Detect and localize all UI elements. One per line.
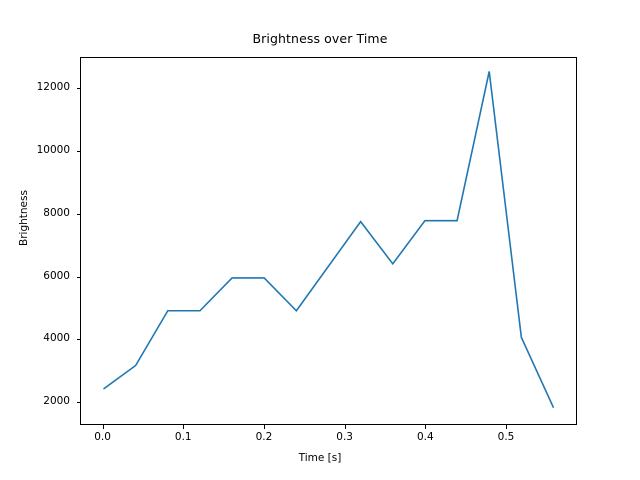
y-tick-label-4: 10000 xyxy=(0,144,70,156)
x-tick-label-5: 0.5 xyxy=(484,431,528,443)
x-tick-label-1: 0.1 xyxy=(161,431,205,443)
x-tick-label-3: 0.3 xyxy=(323,431,367,443)
x-tick-label-0: 0.0 xyxy=(81,431,125,443)
line-plot-svg xyxy=(81,58,576,424)
y-axis-label: Brightness xyxy=(18,98,30,338)
y-tick-label-3: 8000 xyxy=(0,207,70,219)
y-tick-5 xyxy=(77,88,81,89)
y-tick-label-1: 4000 xyxy=(0,332,70,344)
x-tick-5 xyxy=(506,425,507,429)
y-tick-0 xyxy=(77,402,81,403)
x-tick-label-4: 0.4 xyxy=(403,431,447,443)
y-tick-3 xyxy=(77,214,81,215)
x-tick-2 xyxy=(264,425,265,429)
y-tick-label-2: 6000 xyxy=(0,270,70,282)
x-tick-0 xyxy=(103,425,104,429)
plot-area xyxy=(80,57,577,425)
x-tick-3 xyxy=(345,425,346,429)
y-tick-label-0: 2000 xyxy=(0,395,70,407)
x-tick-label-2: 0.2 xyxy=(242,431,286,443)
y-tick-2 xyxy=(77,277,81,278)
x-axis-label: Time [s] xyxy=(0,452,640,464)
x-tick-4 xyxy=(425,425,426,429)
y-tick-label-5: 12000 xyxy=(0,81,70,93)
y-tick-1 xyxy=(77,339,81,340)
brightness-line-series xyxy=(103,71,553,407)
y-tick-4 xyxy=(77,151,81,152)
matplotlib-figure: Brightness over Time 0.00.10.20.30.40.5 … xyxy=(0,0,640,480)
page-title: Brightness over Time xyxy=(0,31,640,46)
x-tick-1 xyxy=(183,425,184,429)
